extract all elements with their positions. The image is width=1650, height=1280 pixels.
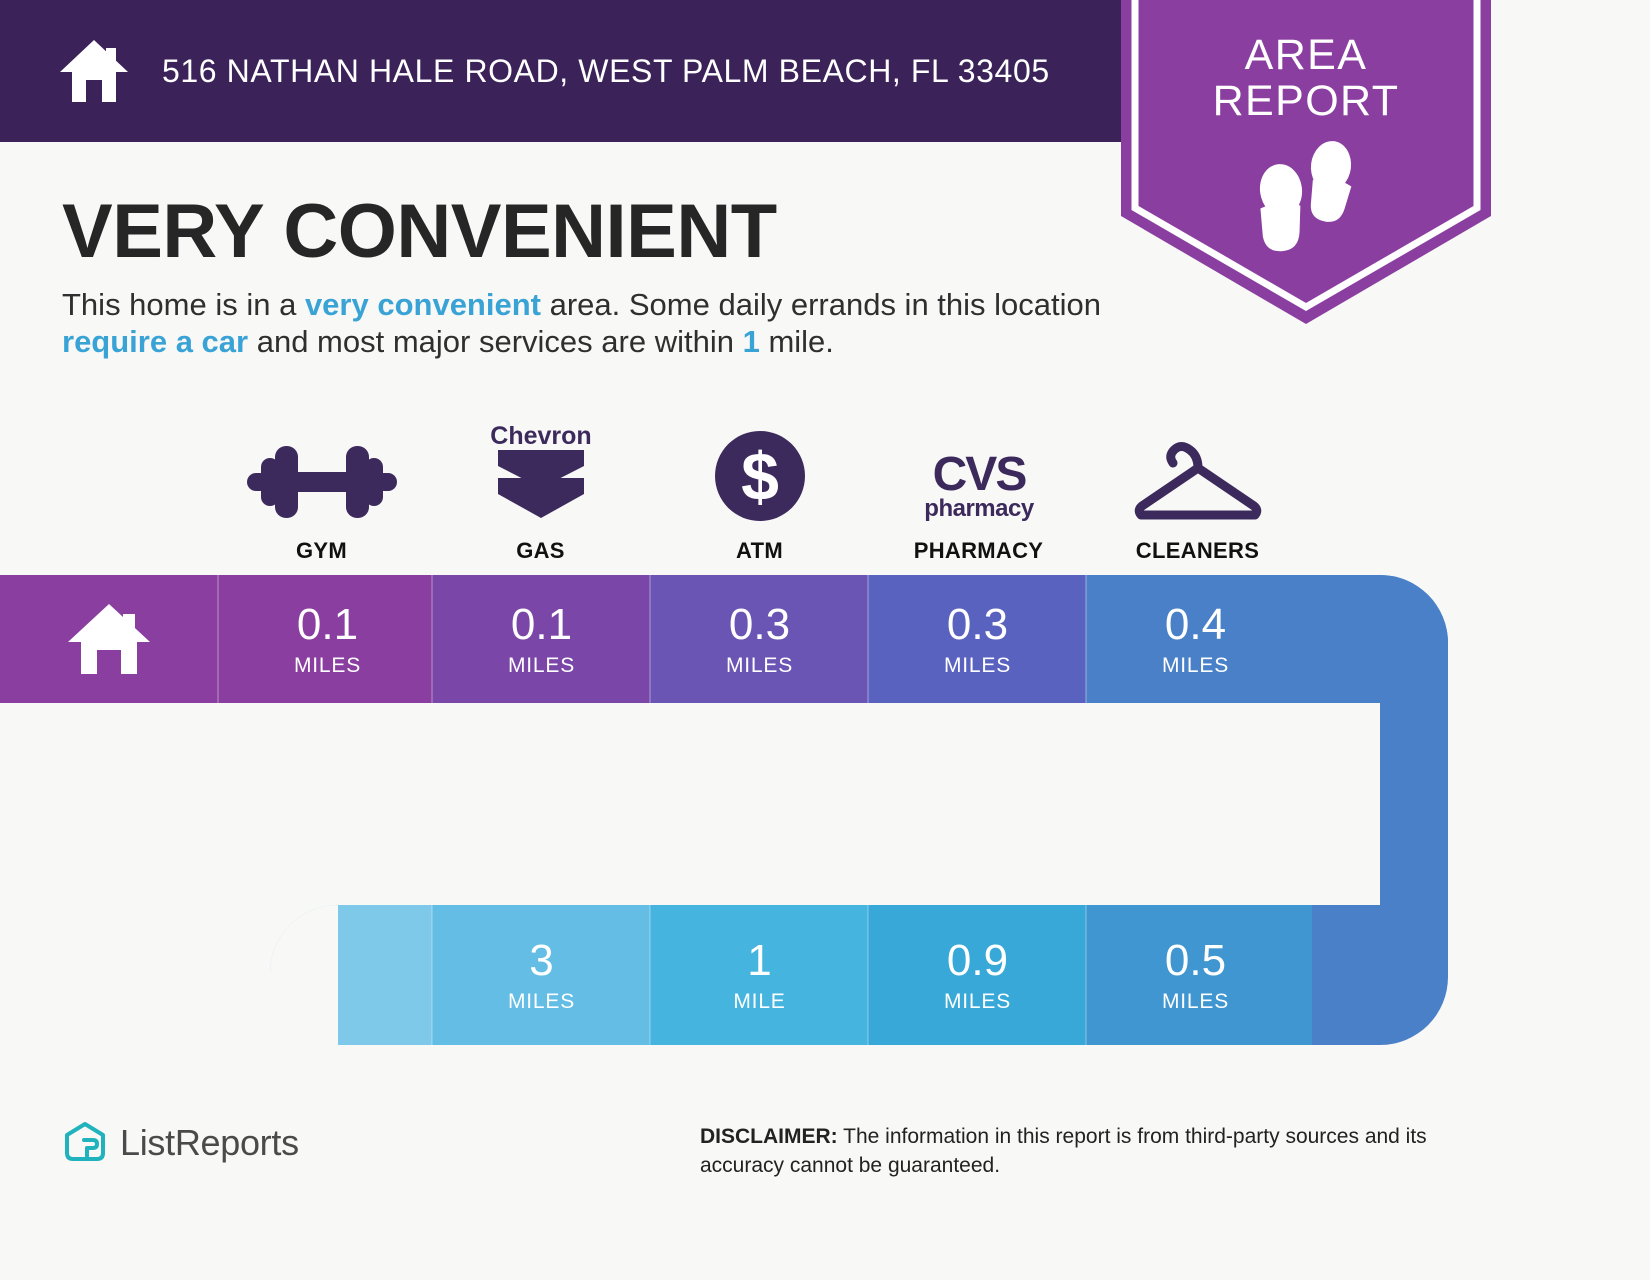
distance-cell-gym: 0.1 MILES (218, 575, 437, 703)
cvs-pharmacy-logo-icon: CVS pharmacy (914, 446, 1044, 524)
infographic-page: 516 NATHAN HALE ROAD, WEST PALM BEACH, F… (0, 0, 1650, 1275)
distance-unit: MILES (508, 991, 575, 1012)
badge-line-1: AREA (1121, 32, 1491, 78)
distance-cell-groceries: 0.5 MILES (1086, 911, 1305, 1039)
summary-part-4: mile. (760, 324, 834, 359)
listreports-logo: ListReports (62, 1120, 299, 1166)
svg-text:Chevron: Chevron (490, 422, 591, 450)
property-address: 516 NATHAN HALE ROAD, WEST PALM BEACH, F… (162, 53, 1050, 90)
home-icon (58, 38, 130, 104)
distance-cell-gas: 0.1 MILES (432, 575, 651, 703)
summary-highlight-1: very convenient (305, 287, 541, 322)
home-icon (65, 600, 153, 678)
category-label: ATM (736, 538, 783, 564)
distance-cell-pharmacy: 0.3 MILES (868, 575, 1087, 703)
svg-text:pharmacy: pharmacy (924, 495, 1035, 522)
distance-value: 0.3 (947, 603, 1008, 647)
disclaimer: DISCLAIMER: The information in this repo… (700, 1122, 1510, 1180)
dumbbell-icon (247, 440, 397, 524)
distance-unit: MILE (733, 991, 785, 1012)
summary-highlight-3: 1 (743, 324, 760, 359)
category-gas: Chevron GAS (431, 418, 650, 564)
logo-wordmark: ListReports (120, 1122, 299, 1164)
badge-line-2: REPORT (1121, 78, 1491, 124)
badge-title: AREA REPORT (1121, 32, 1491, 124)
distance-value: 1 (747, 939, 771, 983)
distance-cell-cleaners: 0.4 MILES (1086, 575, 1305, 703)
page-title: VERY CONVENIENT (62, 188, 777, 275)
distance-value: 3 (529, 939, 553, 983)
distance-unit: MILES (1162, 991, 1229, 1012)
home-marker (0, 575, 218, 703)
distance-unit: MILES (508, 655, 575, 676)
distance-unit: MILES (726, 655, 793, 676)
category-pharmacy: CVS pharmacy PHARMACY (869, 418, 1088, 564)
category-label: PHARMACY (914, 538, 1044, 564)
header-bar: 516 NATHAN HALE ROAD, WEST PALM BEACH, F… (0, 0, 1186, 142)
distance-unit: MILES (944, 655, 1011, 676)
summary-part-2: area. Some daily errands in this locatio… (541, 287, 1101, 322)
summary-text: This home is in a very convenient area. … (62, 286, 1117, 360)
distance-cell-atm: 0.3 MILES (650, 575, 869, 703)
distance-cell-movie-theater: 3 MILES (432, 911, 651, 1039)
distance-value: 0.4 (1165, 603, 1226, 647)
distance-value: 0.3 (729, 603, 790, 647)
category-label: GAS (516, 538, 565, 564)
area-report-badge: AREA REPORT (1121, 0, 1491, 324)
distance-cell-medical: 1 MILE (650, 911, 869, 1039)
distance-unit: MILES (1162, 655, 1229, 676)
category-gym: GYM (212, 418, 431, 564)
category-label: CLEANERS (1136, 538, 1259, 564)
distance-value: 0.9 (947, 939, 1008, 983)
category-icon-row-1: GYM Chevron GAS $ ATM (212, 418, 1307, 564)
dollar-circle-icon: $ (712, 428, 808, 524)
summary-highlight-2: require a car (62, 324, 248, 359)
category-cleaners: CLEANERS (1088, 418, 1307, 564)
distance-unit: MILES (944, 991, 1011, 1012)
distance-value: 0.5 (1165, 939, 1226, 983)
listreports-house-icon (62, 1120, 108, 1166)
distance-cell-coffee: 0.9 MILES (868, 911, 1087, 1039)
svg-text:CVS: CVS (932, 448, 1026, 501)
svg-text:$: $ (741, 439, 779, 515)
chevron-gas-logo-icon: Chevron (486, 422, 596, 524)
category-label: GYM (296, 538, 347, 564)
summary-part-1: This home is in a (62, 287, 305, 322)
distance-unit: MILES (294, 655, 361, 676)
distance-value: 0.1 (511, 603, 572, 647)
category-atm: $ ATM (650, 418, 869, 564)
hanger-icon (1128, 428, 1268, 524)
disclaimer-label: DISCLAIMER: (700, 1125, 838, 1148)
distance-value: 0.1 (297, 603, 358, 647)
summary-part-3: and most major services are within (248, 324, 742, 359)
